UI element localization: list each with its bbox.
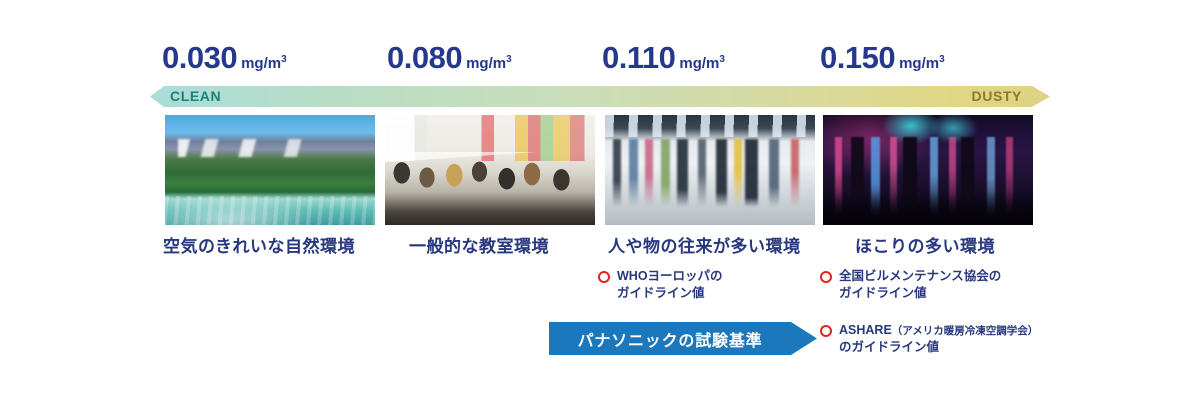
- scale-tick-0: 0.030mg/m3: [162, 40, 287, 76]
- photo-caption-classroom: 一般的な教室環境: [409, 232, 549, 257]
- photo-tile-classroom: [385, 115, 595, 225]
- guideline-note-line2: ガイドライン値: [839, 286, 927, 300]
- red-ring-marker-icon: [820, 271, 832, 283]
- dust-concentration-scale-infographic: 0.030mg/m3 0.080mg/m3 0.110mg/m3 0.150mg…: [0, 0, 1200, 407]
- cleanliness-gradient-bar: CLEAN DUSTY: [150, 86, 1050, 107]
- school-classroom-scene: [385, 115, 595, 225]
- guideline-note-text: 全国ビルメンテナンス協会の ガイドライン値: [839, 268, 1001, 302]
- guideline-note-ashare: ASHARE（アメリカ暖房冷凍空調学会） のガイドライン値: [820, 322, 1038, 356]
- photo-caption-nature: 空気のきれいな自然環境: [163, 232, 355, 257]
- scale-tick-value: 0.150: [820, 40, 895, 75]
- scale-tick-3: 0.150mg/m3: [820, 40, 945, 76]
- scale-label-dusty: DUSTY: [972, 88, 1022, 104]
- scale-tick-unit: mg/m3: [241, 55, 287, 72]
- guideline-note-line1: WHOヨーロッパの: [617, 269, 723, 283]
- photo-tile-concert: [823, 115, 1033, 225]
- guideline-note-line1: 全国ビルメンテナンス協会の: [839, 269, 1001, 283]
- guideline-note-who: WHOヨーロッパの ガイドライン値: [598, 268, 723, 302]
- guideline-note-line1: ASHARE: [839, 323, 892, 337]
- panasonic-test-standard-label: パナソニックの試験基準: [549, 327, 791, 351]
- photo-tile-nature: [165, 115, 375, 225]
- scale-tick-value: 0.080: [387, 40, 462, 75]
- scale-label-clean: CLEAN: [170, 88, 221, 104]
- photo-caption-concourse: 人や物の往来が多い環境: [608, 232, 801, 257]
- concert-audience-crowd-scene: [823, 115, 1033, 225]
- guideline-note-text: ASHARE（アメリカ暖房冷凍空調学会） のガイドライン値: [839, 322, 1038, 356]
- red-ring-marker-icon: [820, 325, 832, 337]
- busy-concourse-crowd-scene: [605, 115, 815, 225]
- red-ring-marker-icon: [598, 271, 610, 283]
- scale-tick-unit: mg/m3: [899, 55, 945, 72]
- mountain-river-nature-scene: [165, 115, 375, 225]
- photo-caption-concert: ほこりの多い環境: [855, 232, 995, 257]
- scale-tick-unit: mg/m3: [679, 55, 725, 72]
- photo-tile-concourse: [605, 115, 815, 225]
- panasonic-test-standard-badge: パナソニックの試験基準: [549, 322, 817, 355]
- guideline-note-jbma: 全国ビルメンテナンス協会の ガイドライン値: [820, 268, 1001, 302]
- scale-tick-2: 0.110mg/m3: [602, 40, 725, 76]
- guideline-note-line1-sub: （アメリカ暖房冷凍空調学会）: [892, 325, 1038, 337]
- scale-tick-value: 0.110: [602, 40, 675, 75]
- scale-tick-unit: mg/m3: [466, 55, 512, 72]
- scale-tick-1: 0.080mg/m3: [387, 40, 512, 76]
- scale-tick-value: 0.030: [162, 40, 237, 75]
- guideline-note-text: WHOヨーロッパの ガイドライン値: [617, 268, 723, 302]
- guideline-note-line2: のガイドライン値: [839, 340, 939, 354]
- guideline-note-line2: ガイドライン値: [617, 286, 705, 300]
